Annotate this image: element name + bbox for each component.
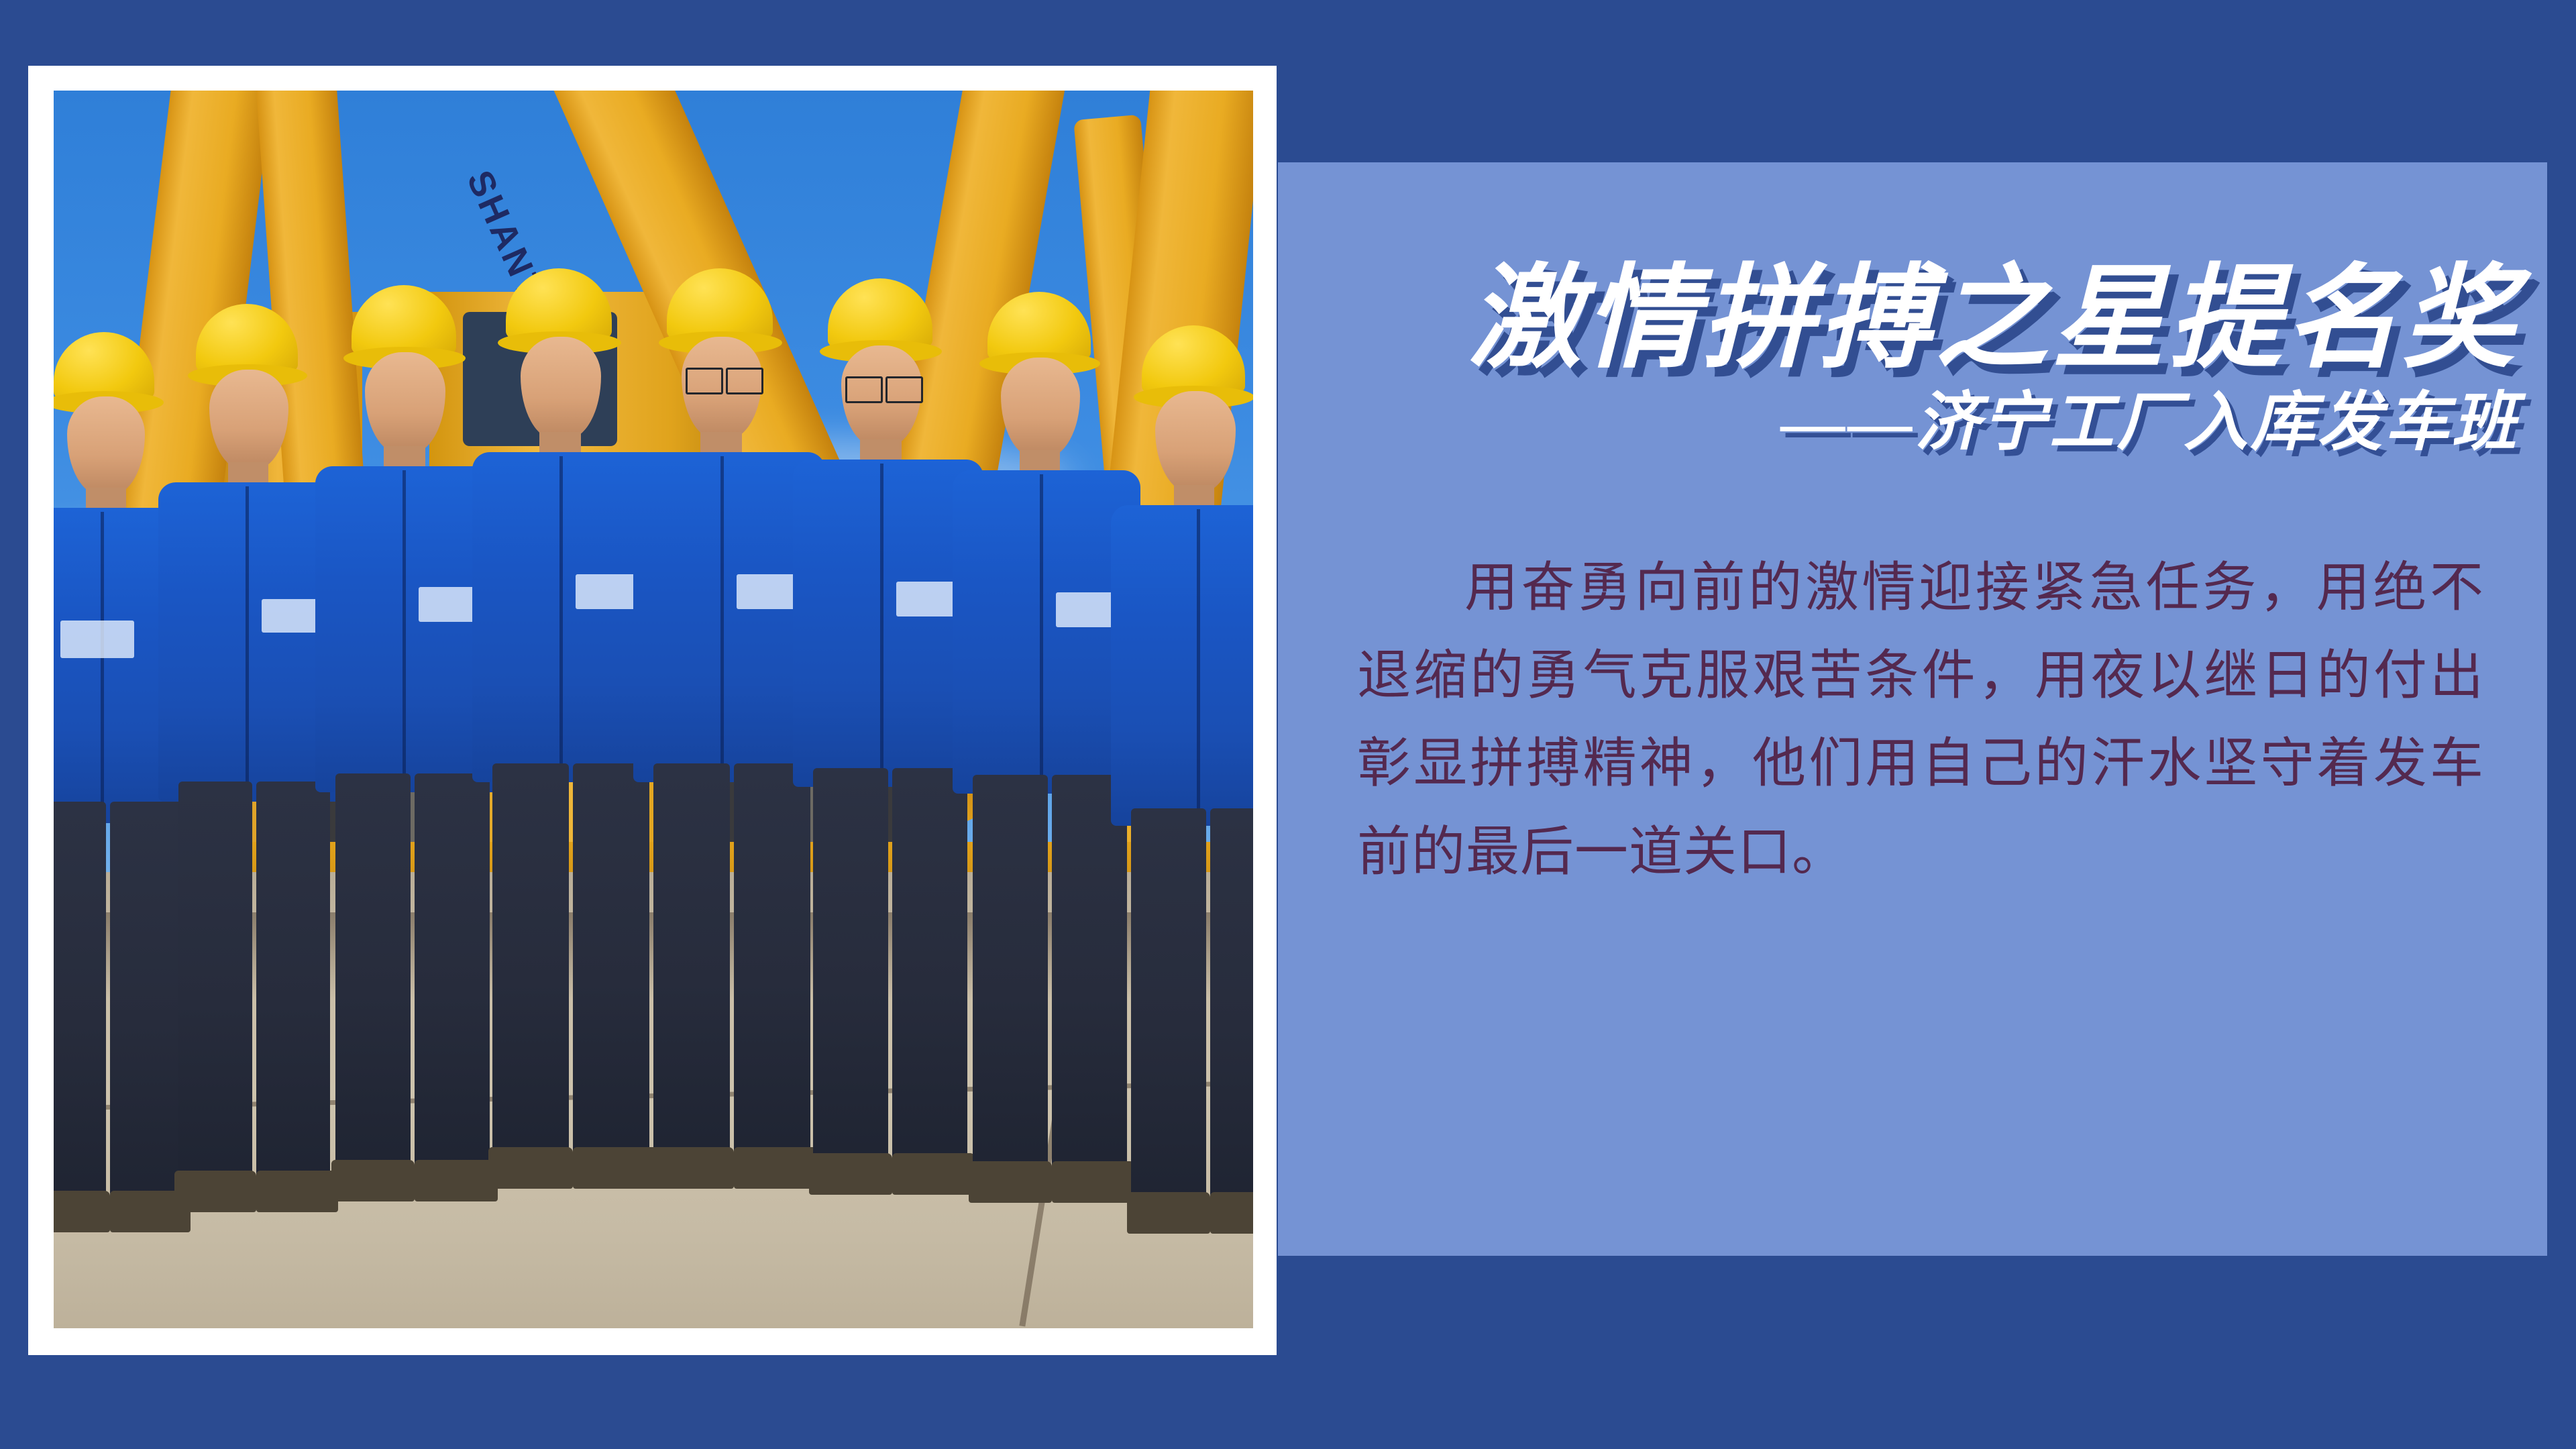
- work-boot: [1052, 1161, 1135, 1203]
- page-subtitle: ——济宁工厂入库发车班: [1278, 390, 2519, 455]
- work-boot: [1127, 1192, 1210, 1234]
- eyeglasses: [686, 368, 723, 394]
- work-boot: [331, 1160, 415, 1201]
- text-panel: 激情拼搏之星提名奖 ——济宁工厂入库发车班 用奋勇向前的激情迎接紧急任务，用绝不…: [1278, 162, 2547, 1256]
- trouser-leg: [178, 782, 252, 1184]
- eyeglasses: [726, 368, 763, 394]
- work-boot: [54, 1191, 110, 1232]
- trouser-leg: [110, 802, 182, 1204]
- team-photo: SHANTUI: [54, 91, 1253, 1328]
- work-boot: [488, 1147, 573, 1189]
- description-paragraph: 用奋勇向前的激情迎接紧急任务，用绝不退缩的勇气克服艰苦条件，用夜以继日的付出彰显…: [1357, 545, 2484, 897]
- eyeglasses: [845, 376, 883, 403]
- slide-canvas: SHANTUI: [0, 0, 2576, 1449]
- work-boot: [892, 1153, 975, 1195]
- uniform-button-placket: [1197, 509, 1200, 816]
- work-uniform-shirt: [158, 482, 341, 802]
- trouser-leg: [973, 775, 1048, 1175]
- trouser-leg: [492, 763, 569, 1161]
- work-boot: [649, 1147, 734, 1189]
- uniform-button-placket: [1040, 474, 1043, 784]
- uniform-button-placket: [402, 470, 406, 783]
- work-boot: [174, 1171, 256, 1212]
- trouser-leg: [813, 768, 888, 1167]
- uniform-button-placket: [720, 456, 724, 773]
- trouser-leg: [892, 768, 967, 1167]
- trouser-leg: [256, 782, 330, 1184]
- trouser-leg: [335, 773, 411, 1173]
- work-boot: [1210, 1192, 1253, 1234]
- work-boot: [415, 1160, 498, 1201]
- work-boot: [969, 1161, 1052, 1203]
- trouser-leg: [415, 773, 490, 1173]
- trouser-leg: [653, 763, 730, 1161]
- page-title: 激情拼搏之星提名奖: [1278, 263, 2519, 376]
- trouser-leg: [1131, 808, 1206, 1205]
- work-uniform-shirt: [1111, 505, 1253, 826]
- trouser-leg: [1052, 775, 1127, 1175]
- uniform-button-placket: [880, 464, 883, 777]
- trouser-leg: [54, 802, 106, 1204]
- trouser-leg: [573, 763, 649, 1161]
- work-boot: [573, 1147, 657, 1189]
- uniform-button-placket: [101, 512, 104, 814]
- trouser-leg: [1210, 808, 1253, 1205]
- trouser-leg: [734, 763, 810, 1161]
- work-boot: [809, 1153, 892, 1195]
- photo-frame: SHANTUI: [28, 66, 1277, 1355]
- work-boot: [734, 1147, 818, 1189]
- uniform-button-placket: [559, 456, 563, 773]
- uniform-logo-patch: [60, 621, 134, 658]
- work-boot: [256, 1171, 338, 1212]
- uniform-button-placket: [246, 486, 249, 792]
- eyeglasses: [885, 376, 923, 403]
